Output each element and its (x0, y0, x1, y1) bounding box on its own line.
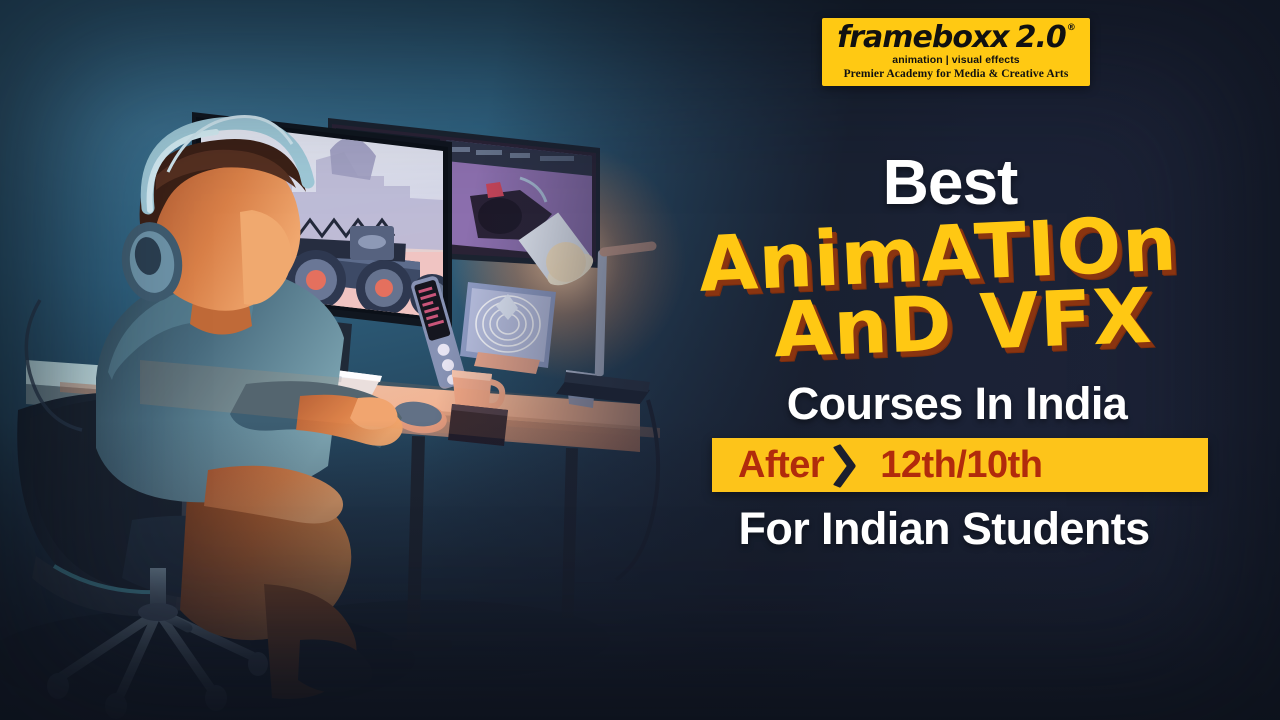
headline-line-courses: Courses In India (660, 381, 1220, 426)
registered-mark-icon: ® (1067, 24, 1075, 33)
banner-after-label: After (738, 446, 824, 484)
banner-grade-label: 12th/10th (880, 446, 1042, 484)
promo-banner: frameboxx 2.0 ® animation | visual effec… (0, 0, 1280, 720)
frameboxx-logo[interactable]: frameboxx 2.0 ® animation | visual effec… (822, 18, 1090, 86)
after-grade-banner-wrap: After 12th/10th (660, 438, 1220, 492)
logo-wordmark: frameboxx 2.0 ® (837, 23, 1075, 53)
headline-line-for-students: For Indian Students (660, 506, 1220, 551)
after-grade-banner: After 12th/10th (712, 438, 1208, 492)
chevron-right-icon (838, 445, 860, 485)
logo-tagline: Premier Academy for Media & Creative Art… (844, 68, 1069, 80)
logo-word: frameboxx (837, 23, 1008, 53)
logo-version: 2.0 (1016, 23, 1066, 53)
logo-subtitle: animation | visual effects (892, 54, 1020, 66)
headline-block: Best AnimATIOn AnD VFX Courses In India … (660, 150, 1220, 551)
